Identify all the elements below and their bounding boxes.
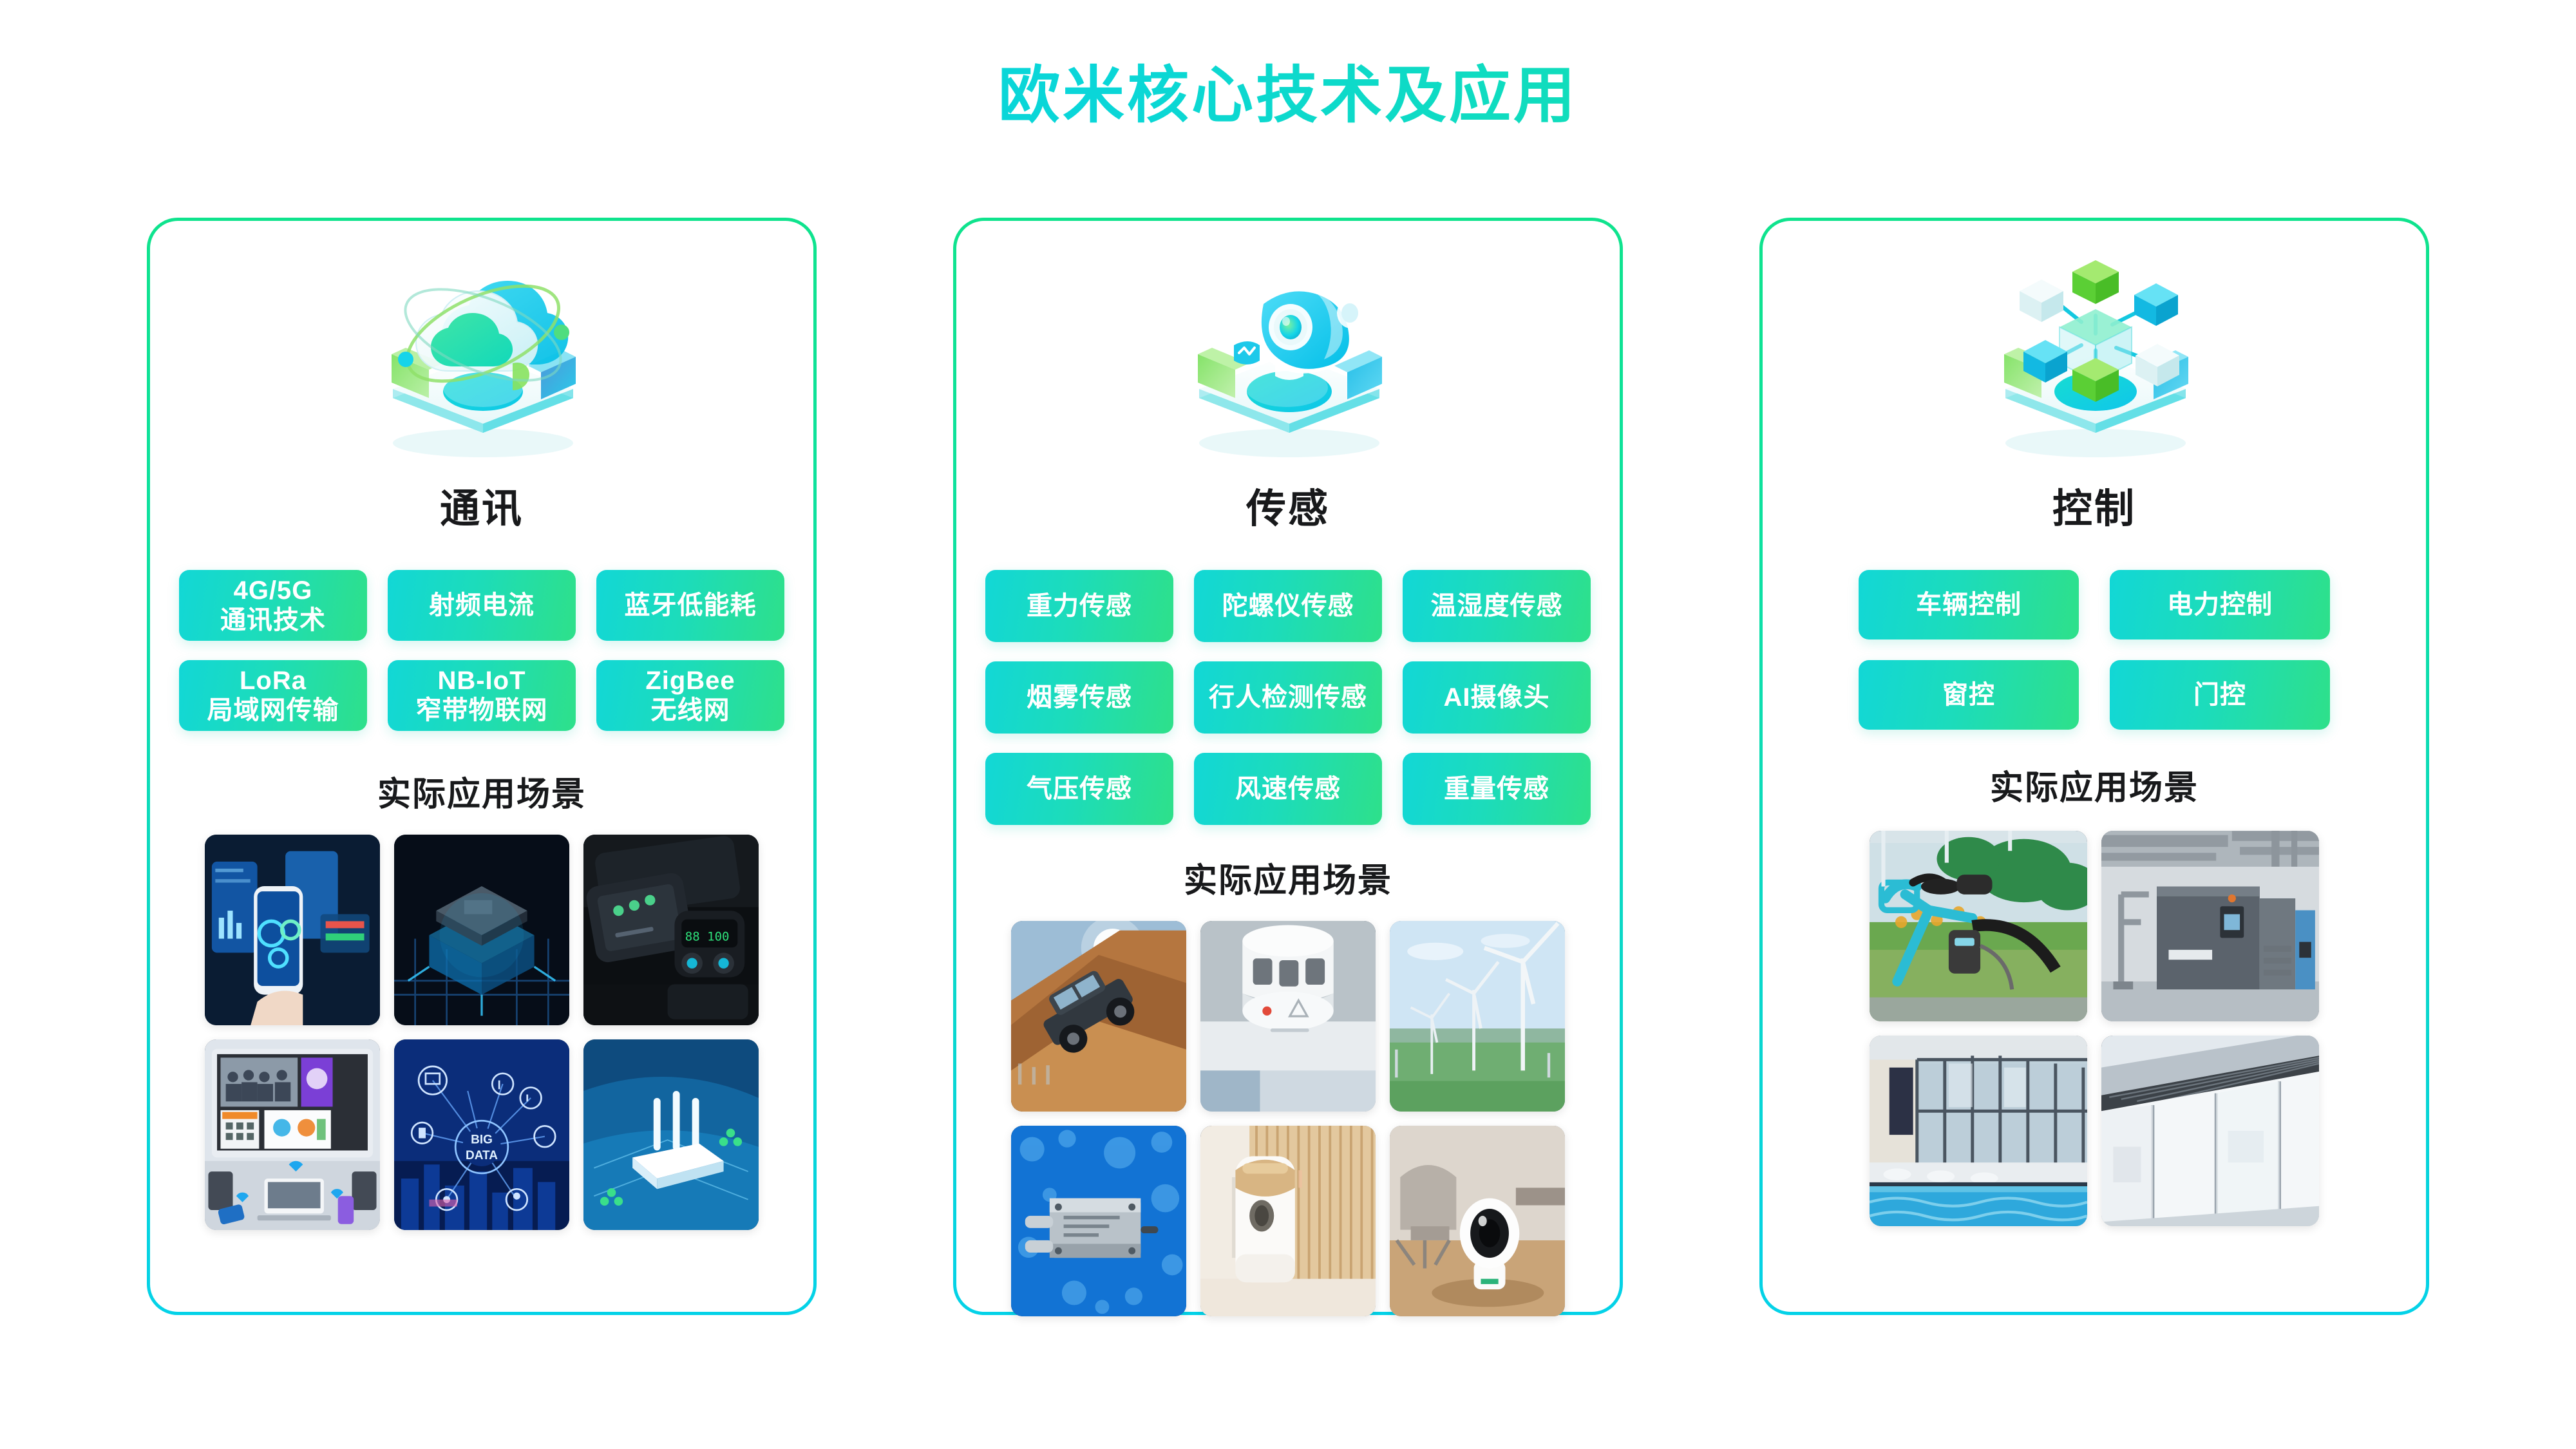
tag-line1: 电力控制 [2167,590,2273,620]
tag-line1: LoRa [240,666,307,696]
tag-line1: 重力传感 [1027,591,1132,621]
power-cabinet-room-photo[interactable] [2101,831,2319,1021]
tag-line1: 陀螺仪传感 [1222,591,1354,621]
tag-line1: 车辆控制 [1916,590,2022,620]
card-heading-communication: 通讯 [150,476,813,534]
tag-zigbee[interactable]: ZigBee 无线网 [596,660,784,731]
blue-chip-circuit-photo[interactable] [394,835,569,1025]
tag-gyroscope-sensor[interactable]: 陀螺仪传感 [1194,570,1382,642]
photo-grid-control [1870,831,2319,1226]
tag-power-control[interactable]: 电力控制 [2110,570,2330,639]
card-row: 通讯 4G/5G 通讯技术 射频电流 蓝牙低能耗 LoRa 局域网传输 NB-I… [0,218,2576,1315]
ai-home-camera-photo[interactable] [1390,1126,1565,1316]
scene-heading-sensing: 实际应用场景 [956,853,1620,902]
big-data-city-network-photo[interactable]: BIG DATA [394,1039,569,1230]
tag-line1: 温湿度传感 [1431,591,1563,621]
svg-text:88 100: 88 100 [685,929,730,943]
tag-line1: 烟雾传感 [1027,683,1132,712]
tag-smoke-sensor[interactable]: 烟雾传感 [985,661,1173,734]
tag-line1: 蓝牙低能耗 [625,591,757,620]
tag-nbiot[interactable]: NB-IoT 窄带物联网 [388,660,576,731]
smoke-detector-photo[interactable] [1200,921,1376,1112]
tag-line2: 通讯技术 [220,605,326,635]
card-sensing: 传感 重力传感 陀螺仪传感 温湿度传感 烟雾传感 行人检测传感 AI摄像头 气压… [953,218,1623,1315]
tag-line1: NB-IoT [437,666,526,696]
wind-turbines-photo[interactable] [1390,921,1565,1112]
wifi-router-photo[interactable] [583,1039,759,1230]
tag-line1: 行人检测传感 [1209,683,1367,712]
card-communication: 通讯 4G/5G 通讯技术 射频电流 蓝牙低能耗 LoRa 局域网传输 NB-I… [147,218,817,1315]
card-heading-sensing: 传感 [956,476,1620,534]
scene-heading-communication: 实际应用场景 [150,767,813,815]
tag-wind-speed-sensor[interactable]: 风速传感 [1194,753,1382,825]
tag-line1: 射频电流 [429,591,535,620]
tag-door-control[interactable]: 门控 [2110,660,2330,730]
photo-grid-sensing [1011,921,1565,1316]
glass-curtain-wall-pool-photo[interactable] [1870,1036,2087,1226]
card-heading-control: 控制 [1763,476,2426,534]
tag-line1: 门控 [2193,680,2246,710]
tag-4g5g[interactable]: 4G/5G 通讯技术 [179,570,367,641]
tag-grid-communication: 4G/5G 通讯技术 射频电流 蓝牙低能耗 LoRa 局域网传输 NB-IoT … [176,534,787,731]
offroad-suv-slope-photo[interactable] [1011,921,1186,1112]
tag-line1: AI摄像头 [1444,683,1550,712]
pir-motion-sensor-photo[interactable] [1200,1126,1376,1316]
photo-grid-communication: 88 100 [205,835,759,1230]
page-title: 欧米核心技术及应用 [0,62,2576,130]
tag-line2: 局域网传输 [207,696,339,725]
tag-pedestrian-detection-sensor[interactable]: 行人检测传感 [1194,661,1382,734]
tag-window-control[interactable]: 窗控 [1859,660,2079,730]
wireless-earbuds-phone-photo[interactable]: 88 100 [583,835,759,1025]
poster-root: 欧米核心技术及应用 [0,0,2576,1449]
tag-line1: 4G/5G [234,576,313,605]
tag-lora[interactable]: LoRa 局域网传输 [179,660,367,731]
tag-line1: 窗控 [1942,680,1995,710]
scene-heading-control: 实际应用场景 [1763,761,2426,809]
cube-network-3d-icon [1763,221,2426,472]
svg-text:DATA: DATA [466,1149,498,1162]
tag-ai-camera[interactable]: AI摄像头 [1403,661,1591,734]
tag-temp-humidity-sensor[interactable]: 温湿度传感 [1403,570,1591,642]
tag-line2: 窄带物联网 [416,696,548,725]
cloud-orbit-3d-icon [150,221,813,472]
tag-pressure-sensor[interactable]: 气压传感 [985,753,1173,825]
shared-bicycle-smartlock-photo[interactable] [1870,831,2087,1021]
waterproof-pressure-sensor-photo[interactable] [1011,1126,1186,1316]
tag-gravity-sensor[interactable]: 重力传感 [985,570,1173,642]
tag-rf-current[interactable]: 射频电流 [388,570,576,641]
automatic-sliding-door-photo[interactable] [2101,1036,2319,1226]
tag-vehicle-control[interactable]: 车辆控制 [1859,570,2079,639]
tag-grid-sensing: 重力传感 陀螺仪传感 温湿度传感 烟雾传感 行人检测传感 AI摄像头 气压传感 … [983,534,1593,825]
tag-line2: 无线网 [651,696,730,725]
card-control: 控制 车辆控制 电力控制 窗控 门控 实际应用场景 [1759,218,2429,1315]
tag-grid-control: 车辆控制 电力控制 窗控 门控 [1859,534,2330,730]
smartphone-dashboard-photo[interactable] [205,835,380,1025]
video-conference-room-photo[interactable] [205,1039,380,1230]
tag-line1: 重量传感 [1444,774,1549,804]
tag-line1: 气压传感 [1027,774,1132,804]
tag-ble[interactable]: 蓝牙低能耗 [596,570,784,641]
camera-sensor-3d-icon [956,221,1620,472]
tag-weight-sensor[interactable]: 重量传感 [1403,753,1591,825]
tag-line1: 风速传感 [1235,774,1341,804]
svg-text:BIG: BIG [471,1133,493,1147]
tag-line1: ZigBee [645,666,735,696]
